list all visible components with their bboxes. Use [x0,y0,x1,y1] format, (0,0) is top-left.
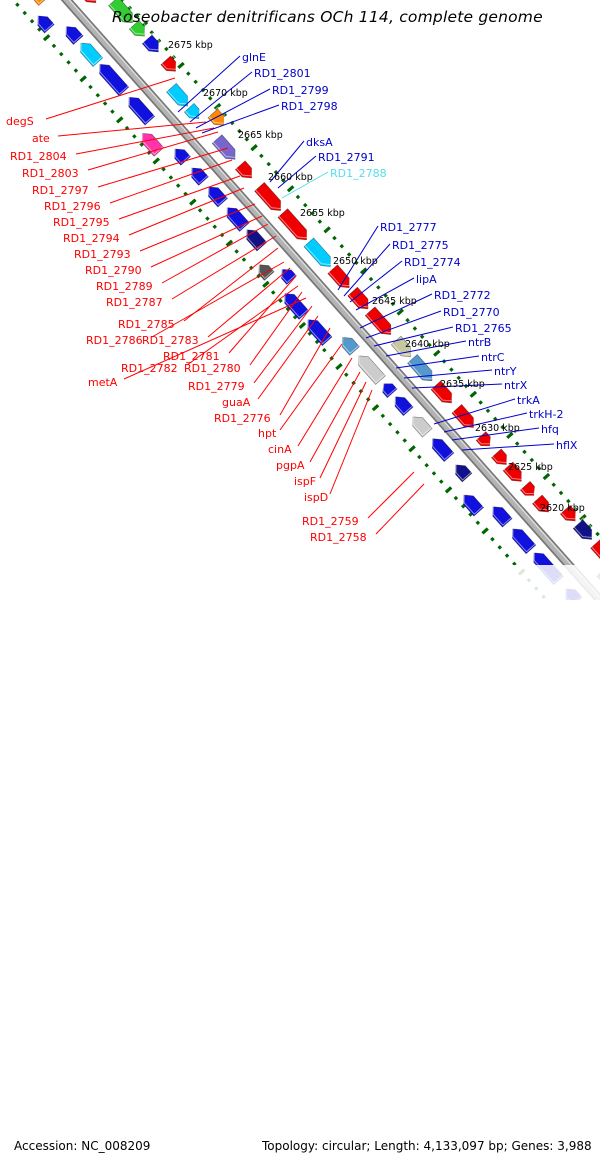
scale-tick-label: 2635 kbp [440,379,485,390]
gene-label-rd1_2777[interactable]: RD1_2777 [380,222,437,233]
gene-label-ate[interactable]: ate [32,133,50,144]
scale-tick-label: 2655 kbp [300,208,345,219]
gene-label-rd1_2780[interactable]: RD1_2780 [184,363,241,374]
gene-label-rd1_2798[interactable]: RD1_2798 [281,101,338,112]
gene-label-rd1_2783[interactable]: RD1_2783 [142,335,199,346]
gene-label-rd1_2796[interactable]: RD1_2796 [44,201,101,212]
gene-label-rd1_2801[interactable]: RD1_2801 [254,68,311,79]
gene-label-hfq[interactable]: hfq [541,424,559,435]
leader-line-rd1_2758 [376,484,424,534]
gene-label-meta[interactable]: metA [88,377,117,388]
leader-line-ispd [330,390,372,494]
gene-label-ispd[interactable]: ispD [304,492,328,503]
gene-label-ntrc[interactable]: ntrC [481,352,505,363]
scale-tick-label: 2645 kbp [372,296,417,307]
gene-label-rd1_2770[interactable]: RD1_2770 [443,307,500,318]
scale-tick-label: 2640 kbp [405,339,450,350]
scale-tick-label: 2650 kbp [333,256,378,267]
leader-line-guaa [258,316,318,399]
gene-label-ntrx[interactable]: ntrX [504,380,527,391]
accession-text: Accession: NC_008209 [14,1139,150,1153]
genome-map-viewer: Roseobacter denitrificans OCh 114, compl… [0,0,600,600]
gene-label-guaa[interactable]: guaA [222,397,250,408]
gene-label-ntrb[interactable]: ntrB [468,337,491,348]
topology-text: Topology: circular; Length: 4,133,097 bp… [262,1139,592,1153]
gene-label-rd1_2790[interactable]: RD1_2790 [85,265,142,276]
gene-label-trkh-2[interactable]: trkH-2 [529,409,563,420]
gene-label-rd1_2776[interactable]: RD1_2776 [214,413,271,424]
gene-label-rd1_2789[interactable]: RD1_2789 [96,281,153,292]
gene-label-hpt[interactable]: hpt [258,428,276,439]
leader-line-rd1_2759 [368,472,414,518]
gene-label-hflx[interactable]: hflX [556,440,577,451]
gene-label-rd1_2797[interactable]: RD1_2797 [32,185,89,196]
scale-tick-label: 2675 kbp [168,40,213,51]
scale-tick-label: 2660 kbp [268,172,313,183]
gene-label-rd1_2787[interactable]: RD1_2787 [106,297,163,308]
page-title: Roseobacter denitrificans OCh 114, compl… [112,8,543,26]
gene-label-rd1_2799[interactable]: RD1_2799 [272,85,329,96]
gene-label-lipa[interactable]: lipA [416,274,437,285]
leader-line-rd1_2789 [162,224,268,283]
gene-label-rd1_2782[interactable]: RD1_2782 [121,363,178,374]
gene-label-rd1_2774[interactable]: RD1_2774 [404,257,461,268]
gene-label-rd1_2804[interactable]: RD1_2804 [10,151,67,162]
gene-label-rd1_2791[interactable]: RD1_2791 [318,152,375,163]
gene-label-glne[interactable]: glnE [242,52,266,63]
scale-tick-label: 2620 kbp [540,503,585,514]
gene-label-degs[interactable]: degS [6,116,34,127]
gene-label-ntry[interactable]: ntrY [494,366,517,377]
gene-label-trka[interactable]: trkA [517,395,540,406]
leader-line-hpt [280,344,342,430]
leader-line-rd1_2797 [98,148,228,187]
gene-label-rd1_2785[interactable]: RD1_2785 [118,319,175,330]
gene-label-cina[interactable]: cinA [268,444,292,455]
gene-label-rd1_2772[interactable]: RD1_2772 [434,290,491,301]
gene-label-pgpa[interactable]: pgpA [276,460,304,471]
gene-label-rd1_2765[interactable]: RD1_2765 [455,323,512,334]
gene-label-rd1_2786[interactable]: RD1_2786 [86,335,143,346]
gene-label-rd1_2775[interactable]: RD1_2775 [392,240,449,251]
gene-label-rd1_2793[interactable]: RD1_2793 [74,249,131,260]
status-bar: Accession: NC_008209 Topology: circular;… [0,565,600,600]
gene-label-rd1_2781[interactable]: RD1_2781 [163,351,220,362]
scale-tick-label: 2625 kbp [508,462,553,473]
leader-line-hflx [462,444,554,450]
gene-label-rd1_2795[interactable]: RD1_2795 [53,217,110,228]
gene-label-rd1_2794[interactable]: RD1_2794 [63,233,120,244]
scale-tick-label: 2630 kbp [475,423,520,434]
leader-line-ispf [320,382,366,478]
leader-line-glne [178,56,240,112]
gene-label-ispf[interactable]: ispF [294,476,316,487]
scale-tick-label: 2670 kbp [203,88,248,99]
gene-label-rd1_2803[interactable]: RD1_2803 [22,168,79,179]
gene-label-rd1_2758[interactable]: RD1_2758 [310,532,367,543]
gene-label-rd1_2788[interactable]: RD1_2788 [330,168,387,179]
gene-label-rd1_2759[interactable]: RD1_2759 [302,516,359,527]
gene-label-dksa[interactable]: dksA [306,137,333,148]
scale-tick-label: 2665 kbp [238,130,283,141]
leader-line-trka [434,399,515,424]
gene-label-rd1_2779[interactable]: RD1_2779 [188,381,245,392]
